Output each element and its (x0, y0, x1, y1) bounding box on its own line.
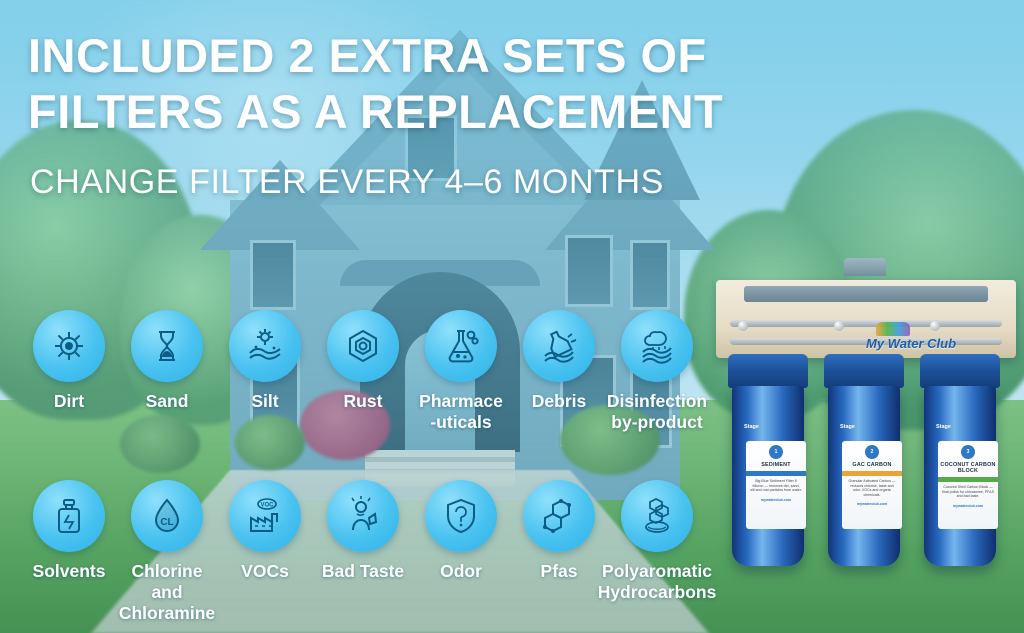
svg-text:CL: CL (160, 517, 173, 528)
stage-tag: Stage (744, 424, 759, 430)
contaminant-pfas[interactable]: Pfas (510, 480, 608, 624)
filter-color-band (938, 477, 998, 482)
icon-circle (131, 310, 203, 382)
poster-canvas: INCLUDED 2 EXTRA SETS OF FILTERS AS A RE… (0, 0, 1024, 633)
contaminant-polyaromatic-hydrocarbons[interactable]: Polyaromatic Hydrocarbons (608, 480, 706, 624)
flask-pills-icon (441, 326, 481, 366)
contaminant-label: VOCs (241, 561, 289, 582)
filter-label-sticker: 2 GAC CARBON Granular Activated Carbon —… (842, 441, 902, 529)
contaminant-label: Polyaromatic Hydrocarbons (598, 561, 717, 603)
pfas-molecule-icon (539, 496, 579, 536)
contaminant-label: Pharmace -uticals (419, 391, 503, 433)
disinfection-byproduct-icon (637, 326, 677, 366)
filter-color-band (842, 471, 902, 476)
bracket-top-rail (744, 286, 988, 302)
contaminant-row-1: Dirt Sand (20, 310, 706, 433)
icon-circle (523, 480, 595, 552)
icon-circle (229, 310, 301, 382)
bracket-screw (834, 321, 844, 331)
contaminant-vocs[interactable]: VOC VOCs (216, 480, 314, 624)
headline-line-2: FILTERS AS A REPLACEMENT (28, 84, 788, 140)
contaminant-label: Disinfection by-product (607, 391, 707, 433)
headline: INCLUDED 2 EXTRA SETS OF FILTERS AS A RE… (28, 28, 788, 140)
rust-nut-bolt-icon (343, 326, 383, 366)
contaminant-label: Silt (251, 391, 278, 412)
stage-number-badge: 2 (865, 445, 879, 459)
icon-circle: CL (131, 480, 203, 552)
filter-footer: mywaterclub.com (746, 497, 806, 503)
housing-cap (728, 354, 808, 388)
brand-logo-mark (876, 322, 910, 336)
filter-title: GAC CARBON (842, 462, 902, 468)
filter-housing-stage-3: Stage 3 COCONUT CARBON BLOCK Coconut She… (916, 354, 1004, 572)
filter-label-sticker: 1 SEDIMENT Big Blue Sediment Filter 5 Mi… (746, 441, 806, 529)
voc-factory-icon: VOC (245, 496, 285, 536)
contaminant-dirt[interactable]: Dirt (20, 310, 118, 433)
contaminant-bad-taste[interactable]: Bad Taste (314, 480, 412, 624)
icon-circle (327, 480, 399, 552)
chlorine-droplet-icon: CL (147, 496, 187, 536)
bracket-rail (730, 320, 1002, 327)
housing-cap (920, 354, 1000, 388)
icon-circle: VOC (229, 480, 301, 552)
subheadline: CHANGE FILTER EVERY 4–6 MONTHS (30, 163, 790, 202)
contaminant-label: Pfas (541, 561, 578, 582)
contaminant-label: Sand (146, 391, 189, 412)
filter-title: SEDIMENT (746, 462, 806, 468)
silt-water-icon (244, 325, 286, 367)
icon-circle (33, 310, 105, 382)
contaminant-odor[interactable]: Odor (412, 480, 510, 624)
filter-footer: mywaterclub.com (938, 503, 998, 509)
bracket-hanger-tab (844, 258, 886, 276)
icon-circle (523, 310, 595, 382)
svg-text:VOC: VOC (260, 503, 274, 509)
contaminant-label: Bad Taste (322, 561, 404, 582)
icon-circle (621, 480, 693, 552)
filter-color-band (746, 471, 806, 476)
brand-name: My Water Club (866, 336, 1006, 351)
filter-label-sticker: 3 COCONUT CARBON BLOCK Coconut Shell Car… (938, 441, 998, 529)
icon-circle (425, 310, 497, 382)
contaminant-label: Dirt (54, 391, 84, 412)
stage-tag: Stage (936, 424, 951, 430)
contaminant-label: Odor (440, 561, 482, 582)
bracket-screw (930, 321, 940, 331)
stage-tag: Stage (840, 424, 855, 430)
filter-housing-stage-2: Stage 2 GAC CARBON Granular Activated Ca… (820, 354, 908, 572)
product-image[interactable]: My Water Club Stage 1 SEDIMENT Big Blue … (716, 258, 1016, 578)
contaminant-disinfection-byproduct[interactable]: Disinfection by-product (608, 310, 706, 433)
icon-circle (33, 480, 105, 552)
mounting-bracket: My Water Club (716, 280, 1016, 358)
contaminant-label: Rust (344, 391, 383, 412)
headline-line-1: INCLUDED 2 EXTRA SETS OF (28, 29, 707, 82)
contaminant-sand[interactable]: Sand (118, 310, 216, 433)
contaminant-debris[interactable]: Debris (510, 310, 608, 433)
polyaromatic-hydrocarbons-icon (637, 496, 677, 536)
dirt-particle-icon (49, 326, 89, 366)
contaminant-row-2: Solvents CL Chlorine and Chloramine VOC (20, 480, 706, 624)
housing-cap (824, 354, 904, 388)
filter-title: COCONUT CARBON BLOCK (938, 462, 998, 474)
contaminant-rust[interactable]: Rust (314, 310, 412, 433)
contaminant-chlorine-chloramine[interactable]: CL Chlorine and Chloramine (118, 480, 216, 624)
icon-circle (425, 480, 497, 552)
debris-bottle-icon (539, 326, 579, 366)
contaminant-label: Solvents (33, 561, 106, 582)
solvent-bottle-icon (49, 496, 89, 536)
odor-shield-icon (441, 496, 481, 536)
icon-circle (621, 310, 693, 382)
housing-sump: Stage 2 GAC CARBON Granular Activated Ca… (828, 386, 900, 566)
contaminant-solvents[interactable]: Solvents (20, 480, 118, 624)
bad-taste-person-icon (343, 496, 383, 536)
contaminant-label: Chlorine and Chloramine (119, 561, 215, 624)
hourglass-sand-icon (147, 326, 187, 366)
filter-description: Granular Activated Carbon — reduces chlo… (842, 479, 902, 497)
filter-footer: mywaterclub.com (842, 501, 902, 507)
stage-number-badge: 1 (769, 445, 783, 459)
contaminant-silt[interactable]: Silt (216, 310, 314, 433)
filter-housing-stage-1: Stage 1 SEDIMENT Big Blue Sediment Filte… (724, 354, 812, 572)
icon-circle (327, 310, 399, 382)
filter-description: Coconut Shell Carbon Block — final polis… (938, 485, 998, 499)
housing-sump: Stage 3 COCONUT CARBON BLOCK Coconut She… (924, 386, 996, 566)
contaminant-pharmaceuticals[interactable]: Pharmace -uticals (412, 310, 510, 433)
bracket-screw (738, 321, 748, 331)
housing-sump: Stage 1 SEDIMENT Big Blue Sediment Filte… (732, 386, 804, 566)
filter-description: Big Blue Sediment Filter 5 Micron — remo… (746, 479, 806, 493)
stage-number-badge: 3 (961, 445, 975, 459)
contaminant-label: Debris (532, 391, 586, 412)
